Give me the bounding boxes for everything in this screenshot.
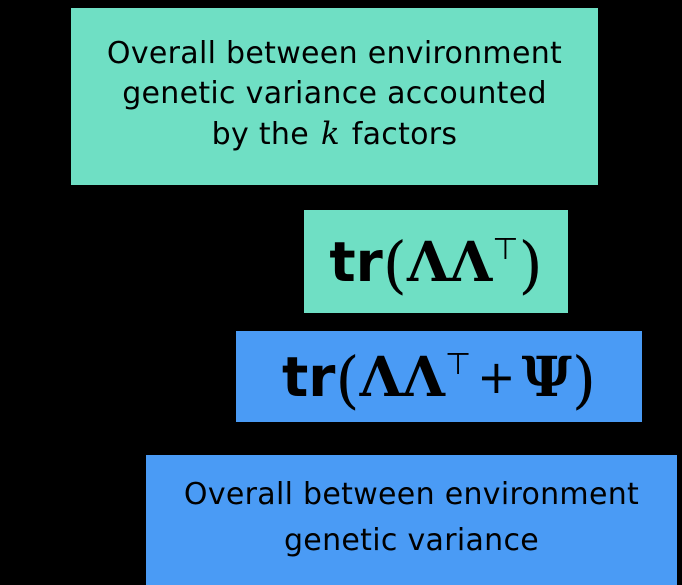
transpose-symbol: ⊤ [492,232,518,267]
close-paren: ) [572,343,596,416]
figure-canvas: Overall between environment genetic vari… [0,0,682,585]
numerator-annotation-line-1: Overall between environment [107,34,562,74]
numerator-annotation-line-2: genetic variance accounted [122,74,547,114]
lambda-symbol-2: Λ [402,344,445,409]
denominator-formula-box: tr(ΛΛ⊤+Ψ) [236,331,642,422]
numerator-formula-box: tr(ΛΛ⊤) [304,210,568,313]
denominator-annotation-callout: Overall between environment genetic vari… [146,455,677,585]
trace-function-label: tr [282,345,335,409]
numerator-formula: tr(ΛΛ⊤) [329,234,542,290]
denominator-annotation-line-1: Overall between environment [184,472,639,519]
lambda-symbol-1: Λ [407,229,450,294]
psi-symbol: Ψ [522,344,572,409]
denominator-annotation-line-2: genetic variance [284,518,539,565]
numerator-annotation-line-3: by the k factors [212,114,458,155]
lambda-symbol-2: Λ [450,229,493,294]
plus-operator: + [471,350,522,404]
close-paren: ) [518,228,542,301]
trace-function-label: tr [329,230,382,294]
transpose-symbol: ⊤ [445,347,471,382]
numerator-annotation-callout: Overall between environment genetic vari… [71,8,598,185]
numerator-annotation-line-3-after: factors [342,117,457,152]
numerator-annotation-line-3-before: by the [212,117,319,152]
open-paren: ( [383,228,407,301]
open-paren: ( [335,343,359,416]
lambda-symbol-1: Λ [360,344,403,409]
denominator-formula: tr(ΛΛ⊤+Ψ) [282,349,596,405]
k-symbol: k [319,116,342,152]
